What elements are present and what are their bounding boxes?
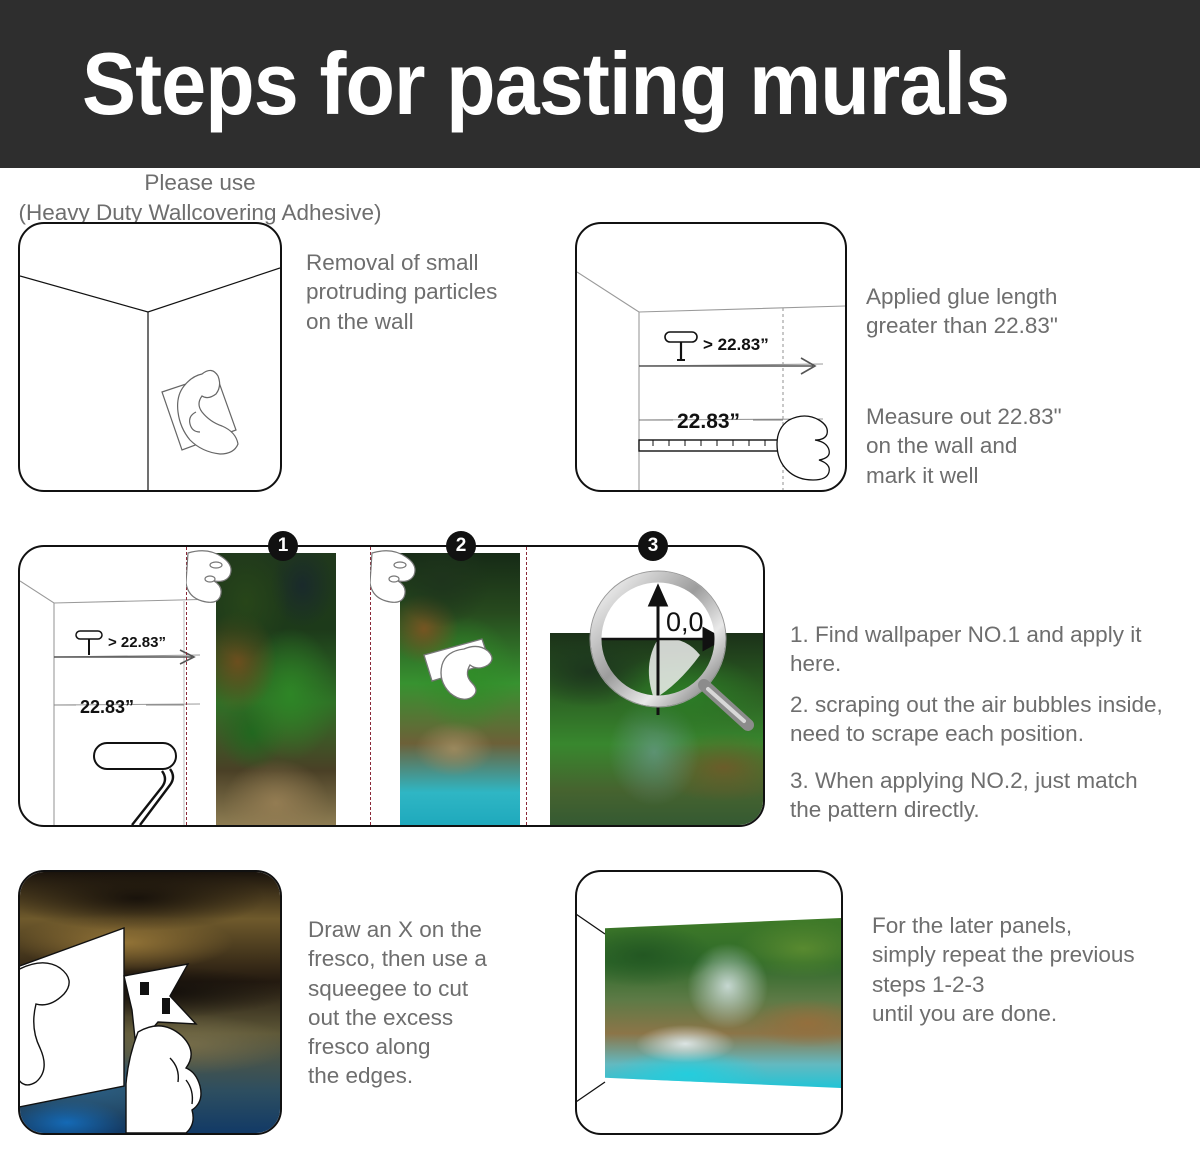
- wall-roller-tape-drawing: > 22.83” 22.83”: [577, 224, 845, 490]
- glue-length-label: > 22.83”: [108, 634, 166, 651]
- step-4-illustration-panel: [18, 870, 282, 1135]
- adhesive-heading: Please use (Heavy Duty Wallcovering Adhe…: [0, 168, 400, 227]
- squeegee-scraping-icon: [420, 633, 516, 719]
- hand-peeling-icon-2: [370, 547, 434, 617]
- instruction-item-2: 2. scraping out the air bubbles inside, …: [790, 690, 1195, 749]
- page-header: Steps for pasting murals: [0, 0, 1200, 168]
- step-badge-1: 1: [268, 531, 298, 561]
- step-1-caption: Removal of small protruding particles on…: [306, 248, 576, 336]
- step-2-illustration-panel: > 22.83” 22.83”: [575, 222, 847, 492]
- hand-peeling-icon-1: [186, 547, 250, 617]
- step-5-illustration-panel: [575, 870, 843, 1135]
- step-3-illustration-panel: > 22.83” 22.83”: [18, 545, 765, 827]
- instruction-item-1: 1. Find wallpaper NO.1 and apply it here…: [790, 620, 1195, 679]
- magnifier-icon: 0,0: [580, 565, 765, 745]
- wall-corner-scraper-drawing: [20, 224, 280, 490]
- roller-icon: [665, 332, 697, 360]
- step-badge-2: 2: [446, 531, 476, 561]
- finished-mural-photo: [605, 918, 841, 1088]
- measure-length-label: 22.83”: [80, 697, 134, 717]
- instruction-item-3: 3. When applying NO.2, just match the pa…: [790, 766, 1195, 825]
- step-2-caption-top: Applied glue length greater than 22.83": [866, 282, 1166, 341]
- glue-length-label: > 22.83”: [703, 335, 769, 354]
- roller-icon-small: [76, 631, 102, 655]
- hand-squeegee-cut-drawing: [20, 872, 280, 1133]
- adhesive-heading-line-1: Please use: [0, 168, 400, 198]
- step-5-caption: For the later panels, simply repeat the …: [872, 911, 1200, 1028]
- paint-roller-icon: [94, 743, 176, 825]
- hand-icon: [777, 416, 829, 480]
- measure-length-label: 22.83”: [677, 410, 740, 433]
- origin-marker-label: 0,0: [666, 607, 704, 637]
- glue-length-arrow: [54, 650, 194, 664]
- step-2-caption-bottom: Measure out 22.83" on the wall and mark …: [866, 402, 1166, 490]
- tape-measure-icon: [639, 440, 789, 451]
- glue-length-arrow: [639, 358, 815, 374]
- step-badge-3: 3: [638, 531, 668, 561]
- page-title: Steps for pasting murals: [82, 40, 1009, 128]
- seam-line-3: [526, 547, 527, 825]
- step-4-caption: Draw an X on the fresco, then use a sque…: [308, 915, 588, 1091]
- step-1-illustration-panel: [18, 222, 282, 492]
